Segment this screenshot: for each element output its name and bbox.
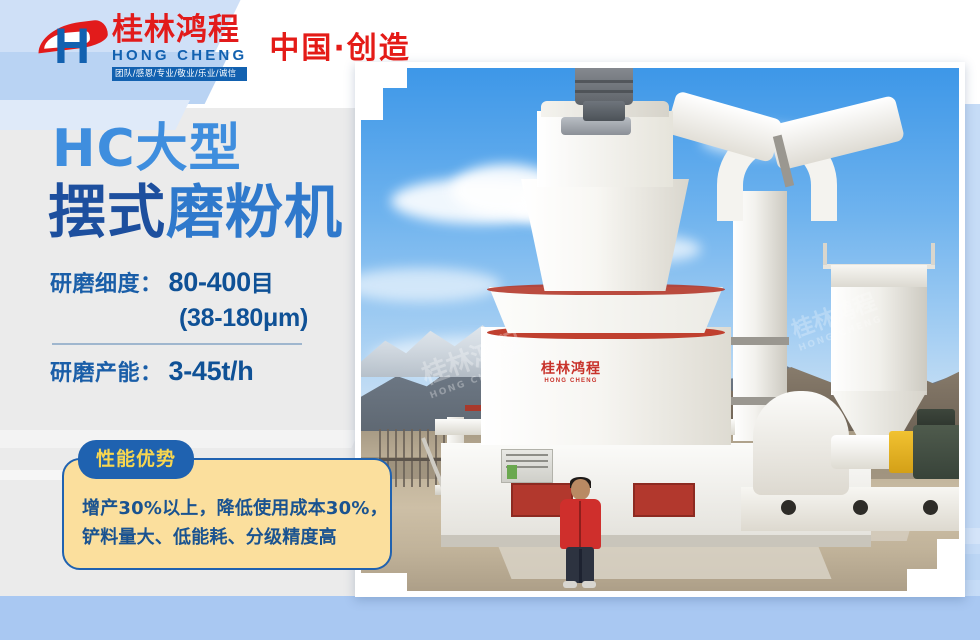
base-port <box>781 500 796 515</box>
logo-slogan: 团队/感恩/专业/敬业/乐业/诚信 <box>112 67 247 81</box>
product-photo: 桂林鸿程 HONG CHENG <box>361 68 959 591</box>
logo-company-en: HONG CHENG <box>112 47 247 65</box>
advantages-callout: 性能优势 增产30%以上，降低使用成本30%， 铲料量大、低能耗、分级精度高 <box>62 458 392 570</box>
spec-value: 3-45t/h <box>169 355 254 387</box>
product-title-line2: 摆式磨粉机 <box>48 180 360 244</box>
motor-fin <box>575 90 633 93</box>
cyclone-rail-post <box>823 243 827 265</box>
spec-label: 研磨产能： <box>50 358 163 390</box>
person-zipper <box>579 501 581 547</box>
logo-letter-h: H <box>54 21 88 71</box>
motor-fin <box>575 80 633 83</box>
person-shoe <box>563 581 577 588</box>
machine-brand-plate: 桂林鸿程 HONG CHENG <box>529 362 613 385</box>
inspection-hatch <box>633 483 695 517</box>
promo-banner: 桂林鸿程 HONG CHENG <box>0 0 980 640</box>
made-in-china-text: 中国·创造 <box>269 32 410 66</box>
spec-row-capacity: 研磨产能： 3-45t/h <box>50 355 350 390</box>
logo-company-cn: 桂林鸿程 <box>112 15 247 46</box>
company-logo[interactable]: H 桂林鸿程 HONG CHENG 团队/感恩/专业/敬业/乐业/诚信 <box>38 15 247 81</box>
machine-base-edge <box>441 535 871 547</box>
mill-body <box>481 327 731 445</box>
spec-list: 研磨细度： 80-400目 (38-180μm) 研磨产能： 3-45t/h <box>50 266 350 390</box>
spec-row-fineness: 研磨细度： 80-400目 <box>50 266 350 301</box>
advantages-line-1: 增产30%以上，降低使用成本30%， <box>82 494 374 523</box>
person-figure <box>557 479 603 591</box>
cyclone-rail-post <box>931 243 935 265</box>
base-port <box>853 500 868 515</box>
person-leg-gap <box>579 549 582 583</box>
motor-cap <box>583 101 625 121</box>
blower-motor <box>913 425 959 479</box>
photo-corner-notch <box>937 539 959 591</box>
person-head <box>571 479 590 500</box>
base-port <box>923 500 938 515</box>
advantages-badge: 性能优势 <box>78 440 194 479</box>
advantages-line-2: 铲料量大、低能耗、分级精度高 <box>82 523 374 552</box>
panel-indicator <box>507 465 517 479</box>
banner-header: H 桂林鸿程 HONG CHENG 团队/感恩/专业/敬业/乐业/诚信 中国·创… <box>0 0 560 96</box>
advantages-box: 性能优势 增产30%以上，降低使用成本30%， 铲料量大、低能耗、分级精度高 <box>62 458 392 570</box>
motor-body <box>575 68 633 105</box>
person-shoe <box>582 581 596 588</box>
coupling-guard <box>889 431 915 473</box>
left-content-column: HC大型 摆式磨粉机 研磨细度： 80-400目 (38-180μm) 研磨产能… <box>0 120 360 390</box>
spec-divider <box>52 343 302 345</box>
product-title-line1: HC大型 <box>52 120 360 178</box>
product-title-part2: 磨粉机 <box>166 178 343 246</box>
bottom-blue-band <box>0 596 980 640</box>
spec-label: 研磨细度： <box>50 269 163 301</box>
spec-value-unit: 目 <box>251 271 274 297</box>
spec-value-number: 80-400 <box>169 267 251 297</box>
duct-flange <box>731 337 789 345</box>
cyclone-body <box>831 287 927 395</box>
spec-subvalue-fineness: (38-180μm) <box>50 301 308 335</box>
machine-brand-en: HONG CHENG <box>529 377 613 385</box>
product-photo-frame: 桂林鸿程 HONG CHENG <box>355 62 965 597</box>
machine-brand-cn: 桂林鸿程 <box>529 362 613 377</box>
logo-mark-icon: H <box>38 15 116 79</box>
logo-text-block: 桂林鸿程 HONG CHENG 团队/感恩/专业/敬业/乐业/诚信 <box>112 15 247 81</box>
photo-corner-notch <box>361 573 407 591</box>
classifier-cone <box>521 179 689 291</box>
spec-value: 80-400目 <box>169 266 274 300</box>
product-title-part1: 摆式 <box>48 178 166 246</box>
